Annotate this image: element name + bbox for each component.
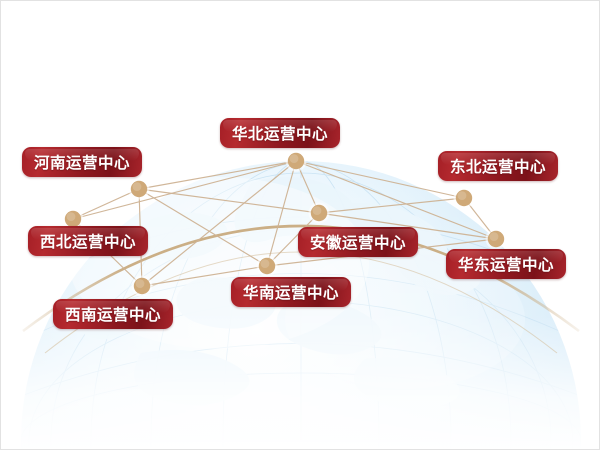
badge-label: 安徽运营中心 bbox=[310, 231, 406, 253]
badge-henan[interactable]: 河南运营中心 bbox=[22, 147, 142, 177]
node-highlight bbox=[136, 279, 145, 288]
badge-dongbei[interactable]: 东北运营中心 bbox=[438, 151, 558, 181]
badge-label: 河南运营中心 bbox=[34, 151, 130, 173]
network-node-huadong[interactable] bbox=[486, 229, 507, 250]
badge-xinan[interactable]: 西南运营中心 bbox=[53, 299, 173, 329]
badge-anhui[interactable]: 安徽运营中心 bbox=[298, 227, 418, 257]
network-node-dongbei[interactable] bbox=[454, 188, 475, 209]
node-highlight bbox=[261, 259, 270, 268]
network-edge bbox=[319, 198, 464, 213]
network-node-anhui[interactable] bbox=[309, 203, 330, 224]
node-highlight bbox=[490, 232, 499, 241]
node-highlight bbox=[67, 212, 76, 221]
badge-huadong[interactable]: 华东运营中心 bbox=[446, 249, 566, 279]
network-map-graphic: 华北运营中心 河南运营中心 东北运营中心 西北运营中心 安徽运营中心 华东运营中… bbox=[0, 0, 600, 450]
badge-huanan[interactable]: 华南运营中心 bbox=[231, 277, 351, 307]
node-highlight bbox=[313, 206, 322, 215]
badge-label: 西南运营中心 bbox=[65, 303, 161, 325]
network-node-huabei[interactable] bbox=[286, 151, 307, 172]
network-node-huanan[interactable] bbox=[257, 256, 278, 277]
network-edge bbox=[139, 161, 296, 189]
badge-label: 华北运营中心 bbox=[232, 122, 328, 144]
badge-label: 东北运营中心 bbox=[450, 155, 546, 177]
network-node-xinan[interactable] bbox=[132, 276, 153, 297]
network-edge bbox=[267, 161, 296, 266]
badge-xibei[interactable]: 西北运营中心 bbox=[28, 226, 148, 256]
node-highlight bbox=[290, 154, 299, 163]
badge-label: 西北运营中心 bbox=[40, 230, 136, 252]
badge-label: 华南运营中心 bbox=[243, 281, 339, 303]
node-highlight bbox=[458, 191, 467, 200]
badge-huabei[interactable]: 华北运营中心 bbox=[220, 118, 340, 148]
badge-label: 华东运营中心 bbox=[458, 253, 554, 275]
network-edge bbox=[139, 189, 319, 213]
network-node-henan[interactable] bbox=[129, 179, 150, 200]
node-highlight bbox=[133, 182, 142, 191]
